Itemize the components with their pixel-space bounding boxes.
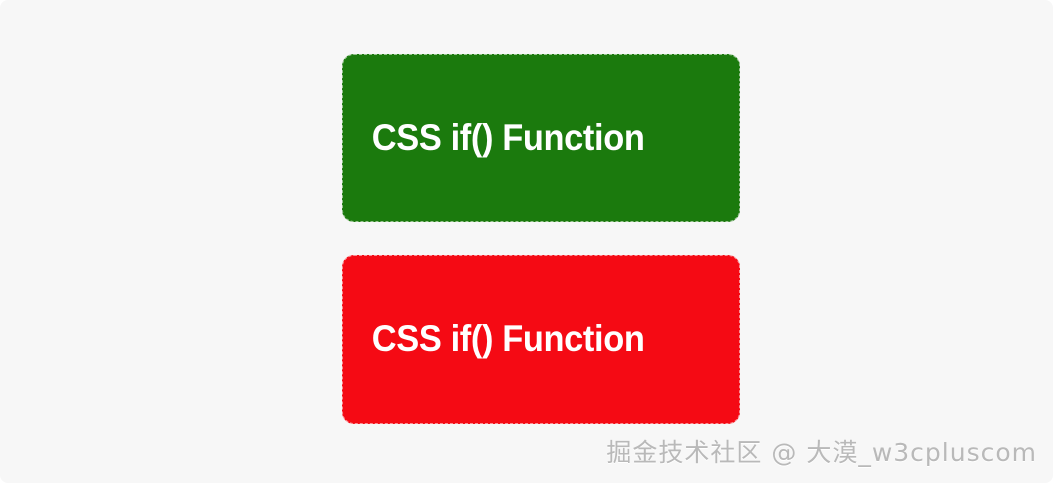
conditional-box-green-label: CSS if() Function	[342, 118, 663, 159]
watermark: 掘金技术社区 @ 大漠_w3cpluscom	[606, 433, 1037, 469]
demo-stage: CSS if() Function CSS if() Function	[342, 54, 740, 424]
conditional-box-green[interactable]: CSS if() Function	[342, 54, 740, 222]
conditional-box-red[interactable]: CSS if() Function	[342, 255, 740, 424]
conditional-box-red-label: CSS if() Function	[342, 319, 663, 360]
demo-canvas: CSS if() Function CSS if() Function 掘金技术…	[0, 0, 1053, 483]
